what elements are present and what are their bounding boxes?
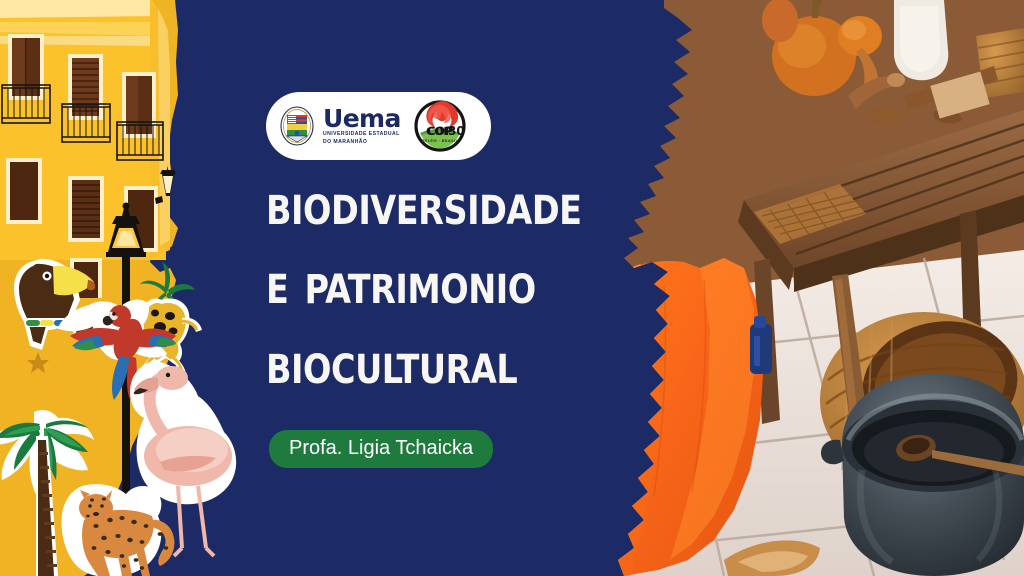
title-line-2: e Patrimonio bbox=[266, 257, 638, 312]
slide-content: Uema UNIVERSIDADE ESTADUAL DO MARANHÃO C… bbox=[265, 0, 685, 576]
left-illustration-panel bbox=[0, 0, 250, 576]
title-line-1: Biodiversidade bbox=[266, 178, 638, 233]
logo-bar: Uema UNIVERSIDADE ESTADUAL DO MARANHÃO C… bbox=[266, 92, 491, 160]
presentation-slide: Uema UNIVERSIDADE ESTADUAL DO MARANHÃO C… bbox=[0, 0, 1024, 576]
page-title: Biodiversidade e Patrimonio Biocultural bbox=[266, 178, 666, 392]
speaker-badge: Profa. Ligia Tchaicka bbox=[269, 430, 493, 468]
speaker-name: Profa. Ligia Tchaicka bbox=[289, 437, 473, 459]
title-line-3: Biocultural bbox=[266, 337, 638, 392]
cop-sublabel: BELÉM · BRASIL bbox=[422, 138, 458, 143]
uema-subtitle-line1: UNIVERSIDADE ESTADUAL bbox=[323, 131, 401, 138]
svg-text:30: 30 bbox=[448, 124, 465, 138]
uema-coat-of-arms-icon bbox=[280, 106, 314, 146]
cop30-flame-logo-icon: COP 30 COP 30 BELÉM · BRASIL bbox=[413, 99, 467, 153]
orange-cloth bbox=[750, 316, 772, 374]
uema-wordmark: Uema UNIVERSIDADE ESTADUAL DO MARANHÃO bbox=[323, 106, 401, 146]
uema-acronym: Uema bbox=[323, 106, 401, 131]
uema-subtitle-line2: DO MARANHÃO bbox=[323, 139, 401, 146]
